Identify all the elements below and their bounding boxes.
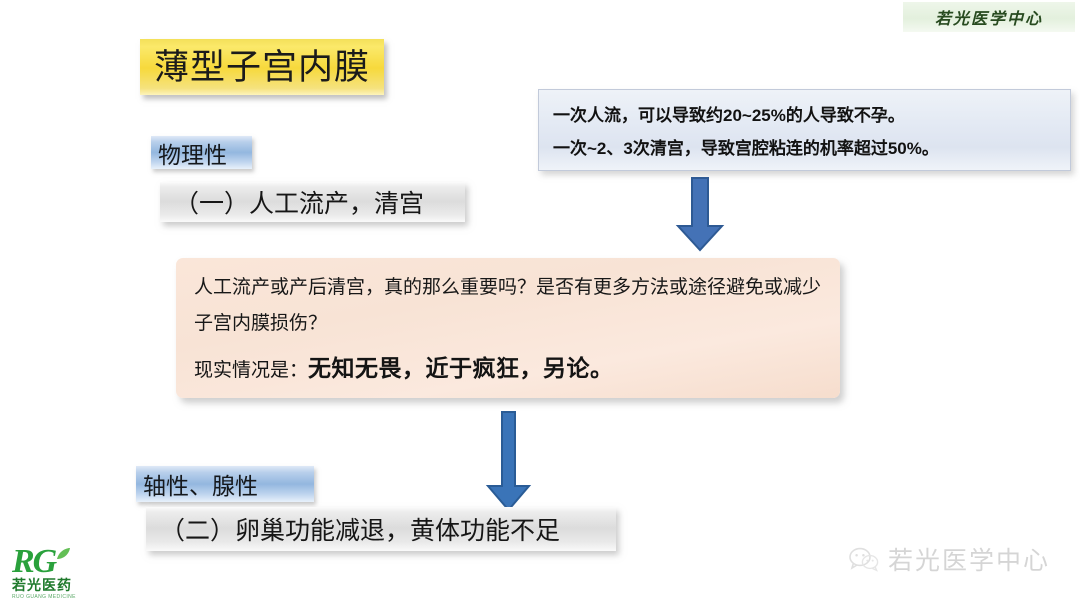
label-axis-gland-text: 轴性、腺性 (143, 467, 258, 501)
main-question-paragraph: 人工流产或产后清宫，真的那么重要吗？是否有更多方法或途径避免或减少子宫内膜损伤？ (194, 270, 822, 342)
label-axis-gland: 轴性、腺性 (136, 466, 314, 502)
logo-mark-text: RG (12, 545, 55, 579)
watermark-top-right: 若光医学中心 (903, 2, 1075, 32)
slide-canvas: 薄型子宫内膜 一次人流，可以导致约20~25%的人导致不孕。 一次~2、3次清宫… (0, 0, 1080, 608)
watermark-bottom-right: 若光医学中心 (849, 541, 1050, 577)
fact-callout-box: 一次人流，可以导致约20~25%的人导致不孕。 一次~2、3次清宫，导致宫腔粘连… (538, 89, 1071, 171)
list-item-two: （二）卵巢功能减退，黄体功能不足 (146, 507, 616, 551)
arrow-down-icon-fact-to-main (672, 176, 728, 254)
main-question-box: 人工流产或产后清宫，真的那么重要吗？是否有更多方法或途径避免或减少子宫内膜损伤？… (176, 258, 840, 398)
logo-ruoguang: RG 若光医药 RUO GUANG MEDICINE (12, 545, 106, 603)
leaf-icon (55, 547, 71, 561)
main-conclusion: 现实情况是：无知无畏，近于疯狂，另论。 (194, 354, 822, 386)
main-conclusion-emphasis: 无知无畏，近于疯狂，另论。 (308, 356, 614, 381)
slide-title-banner: 薄型子宫内膜 (140, 39, 384, 95)
watermark-bottom-right-text: 若光医学中心 (888, 541, 1050, 577)
label-physical: 物理性 (151, 136, 252, 169)
logo-pinyin-text: RUO GUANG MEDICINE (12, 594, 106, 601)
fact-line-1: 一次人流，可以导致约20~25%的人导致不孕。 (553, 99, 1056, 132)
arrow-down-icon-main-to-item-two (483, 410, 535, 514)
label-physical-text: 物理性 (158, 136, 227, 170)
list-item-two-text: （二）卵巢功能减退，黄体功能不足 (160, 511, 560, 547)
wechat-icon (849, 546, 879, 572)
watermark-top-right-text: 若光医学中心 (935, 5, 1043, 29)
logo-name-text: 若光医药 (12, 579, 106, 594)
main-conclusion-prefix: 现实情况是： (194, 360, 308, 381)
list-item-one: （一）人工流产，清宫 (160, 182, 465, 222)
fact-line-2: 一次~2、3次清宫，导致宫腔粘连的机率超过50%。 (553, 132, 1056, 165)
page-title: 薄型子宫内膜 (154, 50, 370, 85)
list-item-one-text: （一）人工流产，清宫 (174, 184, 424, 220)
